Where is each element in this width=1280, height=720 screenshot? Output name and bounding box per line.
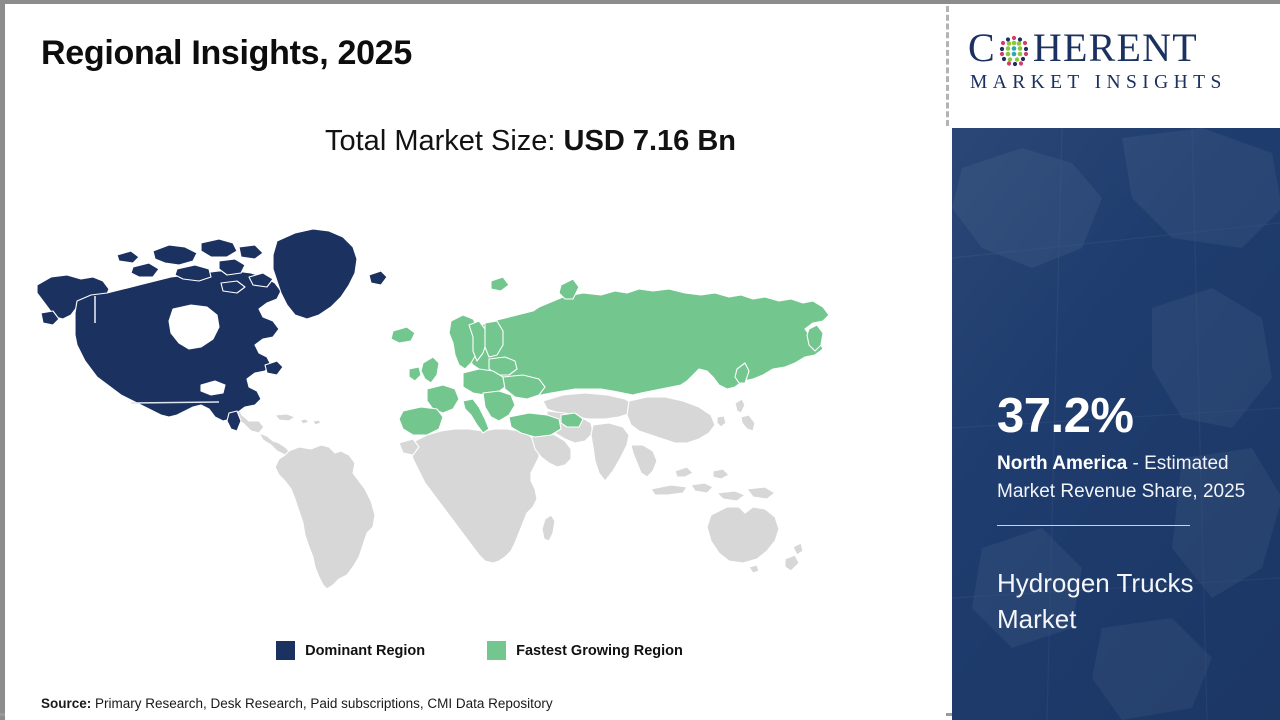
legend-swatch-dominant-icon — [276, 641, 295, 660]
stat-description: North America - Estimated Market Revenue… — [997, 450, 1259, 505]
world-map[interactable] — [23, 189, 843, 619]
map-region-north-america-dominant — [37, 229, 387, 431]
source-label: Source: — [41, 696, 91, 711]
legend-item-dominant[interactable]: Dominant Region — [276, 641, 425, 660]
legend-label-dominant: Dominant Region — [305, 643, 425, 659]
stat-panel: 37.2% North America - Estimated Market R… — [952, 128, 1280, 720]
logo-word-before: C — [968, 28, 996, 68]
coherent-market-insights-logo[interactable]: C — [968, 26, 1264, 94]
stat-region-name: North America — [997, 453, 1127, 474]
legend-swatch-fastest-growing-icon — [487, 641, 506, 660]
slide-root: Regional Insights, 2025 Total Market Siz… — [0, 0, 1280, 720]
source-note: Source: Primary Research, Desk Research,… — [41, 696, 553, 711]
market-name: Hydrogen Trucks Market — [997, 566, 1247, 638]
legend-item-fastest-growing[interactable]: Fastest Growing Region — [487, 641, 683, 660]
dotted-globe-icon — [996, 32, 1032, 68]
logo-area: C — [952, 4, 1280, 128]
source-text: Primary Research, Desk Research, Paid su… — [91, 696, 552, 711]
total-market-size: Total Market Size: USD 7.16 Bn — [5, 125, 946, 158]
logo-word-after: HERENT — [1033, 28, 1198, 68]
market-size-label: Total Market Size: — [325, 125, 564, 157]
stat-panel-content: 37.2% North America - Estimated Market R… — [997, 128, 1255, 638]
logo-subtitle: MARKET INSIGHTS — [968, 72, 1264, 94]
map-legend: Dominant Region Fastest Growing Region — [5, 641, 946, 660]
logo-wordmark: C — [968, 26, 1264, 70]
stat-divider-rule — [997, 525, 1190, 526]
stat-value: 37.2% — [997, 392, 1255, 441]
left-content-panel: Regional Insights, 2025 Total Market Siz… — [5, 4, 946, 716]
legend-label-fastest-growing: Fastest Growing Region — [516, 643, 683, 659]
vertical-dashed-divider — [946, 6, 949, 126]
page-title: Regional Insights, 2025 — [41, 34, 412, 73]
market-size-value: USD 7.16 Bn — [564, 125, 736, 157]
